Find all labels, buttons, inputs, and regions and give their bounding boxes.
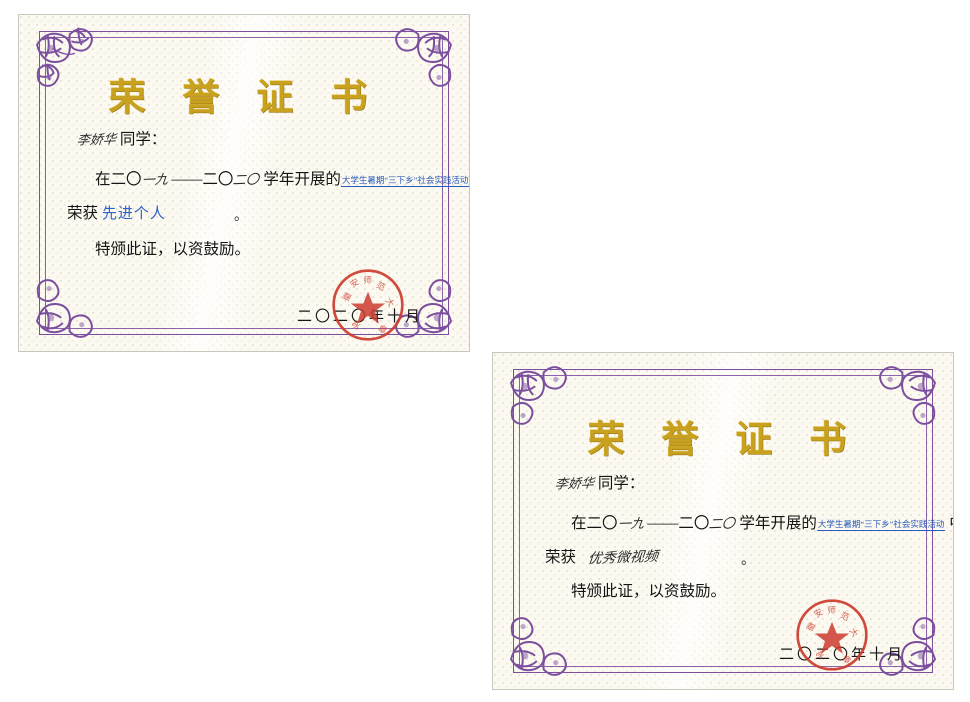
- year-start-handwritten: 一九: [140, 169, 168, 189]
- certificate-right: 荣 誉 证 书 李娇华 同学： 在二〇一九 ——二〇二〇 学年开展的大学生暑期“…: [492, 352, 954, 690]
- recipient-suffix: 同学：: [598, 475, 645, 492]
- svg-text:范: 范: [374, 279, 387, 294]
- collage-page: 荣 誉 证 书 李娇华 同学： 在二〇一九 ——二〇二〇 学年开展的大学生暑期“…: [0, 0, 970, 702]
- year-end-handwritten: 二〇: [708, 513, 736, 533]
- body-after-year: 学年开展的: [739, 515, 817, 532]
- body-after-year: 学年开展的: [263, 171, 341, 188]
- activity-name: 大学生暑期“三下乡”社会实践活动: [341, 174, 470, 187]
- svg-text:师: 师: [827, 604, 836, 616]
- body-tail: 中，: [949, 515, 954, 532]
- year-start-handwritten: 一九: [616, 513, 644, 533]
- recipient-name-handwritten: 李娇华: [76, 128, 117, 148]
- recipient-line: 李娇华 同学：: [77, 127, 166, 149]
- body-line-1: 在二〇一九 ——二〇二〇 学年开展的大学生暑期“三下乡”社会实践活动 中，: [571, 511, 954, 533]
- activity-name: 大学生暑期“三下乡”社会实践活动: [817, 518, 946, 531]
- svg-text:徽: 徽: [804, 620, 819, 634]
- closing-line: 特颁此证，以资鼓励。: [95, 237, 250, 259]
- award-period: 。: [234, 205, 248, 225]
- award-line: 荣获 优秀微视频: [545, 545, 658, 567]
- certificate-left: 荣 誉 证 书 李娇华 同学： 在二〇一九 ——二〇二〇 学年开展的大学生暑期“…: [18, 14, 470, 352]
- award-value: 优秀微视频: [587, 546, 659, 568]
- svg-text:大: 大: [847, 626, 862, 640]
- svg-text:章: 章: [376, 322, 390, 337]
- award-period: 。: [741, 549, 755, 569]
- closing-line: 特颁此证，以资鼓励。: [571, 579, 726, 601]
- svg-text:安: 安: [348, 275, 362, 290]
- award-label: 荣获: [67, 205, 98, 222]
- body-mid: 二〇: [202, 171, 233, 188]
- svg-text:徽: 徽: [340, 290, 355, 304]
- official-seal-icon: 安 师 范 大 徽 学 章: [329, 266, 407, 344]
- svg-text:师: 师: [363, 274, 372, 286]
- svg-text:章: 章: [840, 652, 854, 667]
- recipient-suffix: 同学：: [120, 131, 167, 148]
- official-seal-icon: 安 师 范 大 徽 学 章: [793, 596, 871, 674]
- body-prefix: 在二〇: [95, 171, 142, 188]
- award-label: 荣获: [545, 549, 576, 566]
- svg-text:安: 安: [812, 605, 826, 620]
- svg-text:范: 范: [838, 609, 851, 624]
- body-dash: ——: [647, 515, 678, 532]
- certificate-title: 荣 誉 证 书: [19, 67, 469, 121]
- certificate-title: 荣 誉 证 书: [493, 409, 953, 463]
- recipient-name-handwritten: 李娇华: [554, 472, 595, 492]
- award-value: 先进个人: [102, 204, 166, 222]
- body-line-1: 在二〇一九 ——二〇二〇 学年开展的大学生暑期“三下乡”社会实践活动 中，: [95, 167, 470, 189]
- body-dash: ——: [171, 171, 202, 188]
- year-end-handwritten: 二〇: [232, 169, 260, 189]
- svg-text:大: 大: [383, 296, 398, 310]
- body-mid: 二〇: [678, 515, 709, 532]
- award-line: 荣获 先进个人: [67, 201, 166, 223]
- recipient-line: 李娇华 同学：: [555, 471, 644, 493]
- body-prefix: 在二〇: [571, 515, 618, 532]
